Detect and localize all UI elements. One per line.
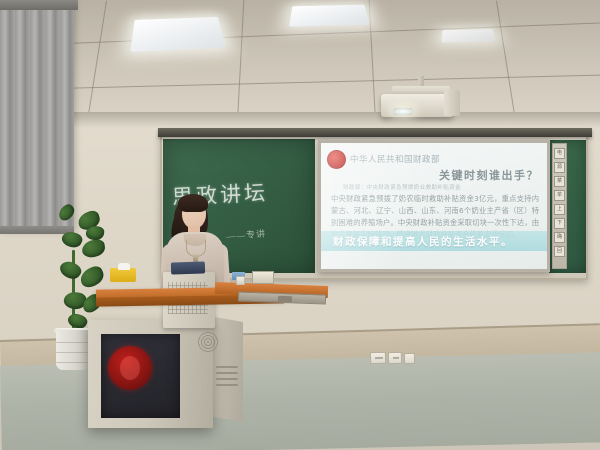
screen-button-up[interactable]: 上 [554,204,565,215]
plant-pot [56,330,90,370]
podium-speaker-grille [198,332,218,352]
ceiling-tile-line [237,0,245,128]
screen-button-select[interactable]: 单 [554,190,565,201]
curtain-hem [0,226,74,234]
university-seal-icon [108,346,152,390]
ceiling-tile-line [86,1,107,128]
window-curtain[interactable] [0,0,74,232]
slide-ministry-name: 中华人民共和国财政部 [350,153,440,165]
sliding-board-rail[interactable] [158,128,592,137]
screen-button-down[interactable]: 下 [554,218,565,229]
chalkboard-subtext: ——专讲 [226,227,267,243]
screen-button-source[interactable]: 源 [554,162,565,173]
slide-subheading: 财政部：中央财政紧急预拨奶业救助补贴资金 [343,183,533,191]
slide-banner: 财政保障和提高人民的生活水平。 [321,231,547,251]
screen-control-panel[interactable]: 电 源 菜 单 上 下 确 回 [552,143,567,269]
projected-slide: 中华人民共和国财政部 关键时刻谁出手？ 财政部：中央财政紧急预拨奶业救助补贴资金… [321,143,547,269]
projector-mount [444,90,460,116]
tissue-sheet [118,263,130,270]
screen-button-power[interactable]: 电 [554,148,565,159]
curtain-rod [0,0,78,10]
slide-ministry-block: 中华人民共和国财政部 [350,153,440,165]
wall-outlet[interactable] [370,352,386,364]
slide-banner-text: 财政保障和提高人民的生活水平。 [321,234,513,249]
projector-lens-icon [393,108,413,115]
projection-screen[interactable]: 中华人民共和国财政部 关键时刻谁出手？ 财政部：中央财政紧急预拨奶业救助补贴资金… [318,140,550,272]
screen-button-confirm[interactable]: 确 [554,232,565,243]
wall-shadow [0,112,600,128]
drawer-handle[interactable] [278,296,292,302]
tissue-box[interactable] [110,268,136,282]
podium-side-panel [209,316,243,422]
ceiling-light-panel [130,17,226,52]
projector-body [381,94,453,117]
slide-title: 关键时刻谁出手？ [439,167,539,183]
wall-switch[interactable] [404,353,415,364]
wall-outlet[interactable] [388,352,402,364]
ceiling-tile-line [369,0,377,128]
national-emblem-icon [327,150,346,169]
classroom-scene: 思政讲坛 ——专讲 中华人民共和国财政部 关键时刻谁出手？ 财政部：中央财政紧急… [0,0,600,450]
ceiling-light-panel [441,29,495,42]
desk-item[interactable] [236,276,245,285]
desk-storage-basket[interactable] [252,271,274,284]
ceiling-light-panel [289,5,369,27]
screen-button-menu[interactable]: 菜 [554,176,565,187]
ceiling-tile-line [496,1,517,128]
screen-button-back[interactable]: 回 [554,246,565,257]
lecturer-hair-top [178,194,208,212]
control-monitor[interactable] [171,261,205,274]
